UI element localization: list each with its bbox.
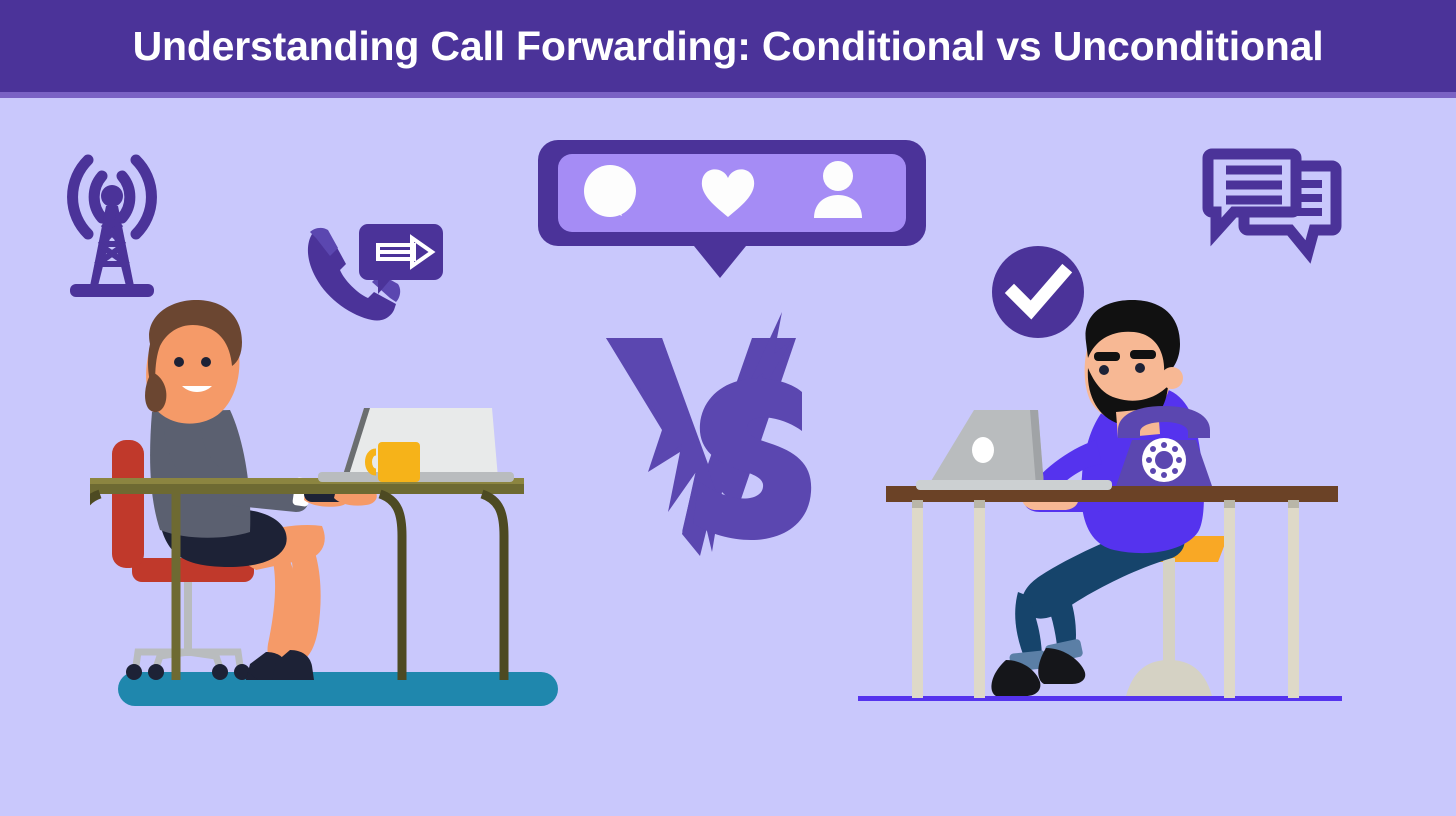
page-title: Understanding Call Forwarding: Condition… [0, 0, 1456, 92]
floor-mat [118, 672, 558, 706]
social-notification-bubble [538, 134, 926, 280]
vs-lightning-graphic [596, 312, 828, 582]
banner-image: Understanding Call Forwarding: Condition… [0, 0, 1456, 816]
chat-bubble-icon [584, 165, 636, 217]
eye-right [201, 357, 211, 367]
woman-head [145, 300, 242, 424]
eye-left [1099, 365, 1109, 375]
eye-left [174, 357, 184, 367]
man-at-desk-scene [850, 300, 1350, 710]
ear [1161, 367, 1183, 389]
chat-messages-icon [1202, 148, 1344, 270]
cell-tower-icon [48, 138, 176, 302]
woman-at-desk-scene [90, 300, 560, 710]
rotary-telephone-icon [1116, 406, 1212, 486]
header-divider [0, 92, 1456, 98]
floor-line [858, 696, 1342, 701]
laptop-logo [972, 437, 994, 463]
eye-right [1135, 363, 1145, 373]
